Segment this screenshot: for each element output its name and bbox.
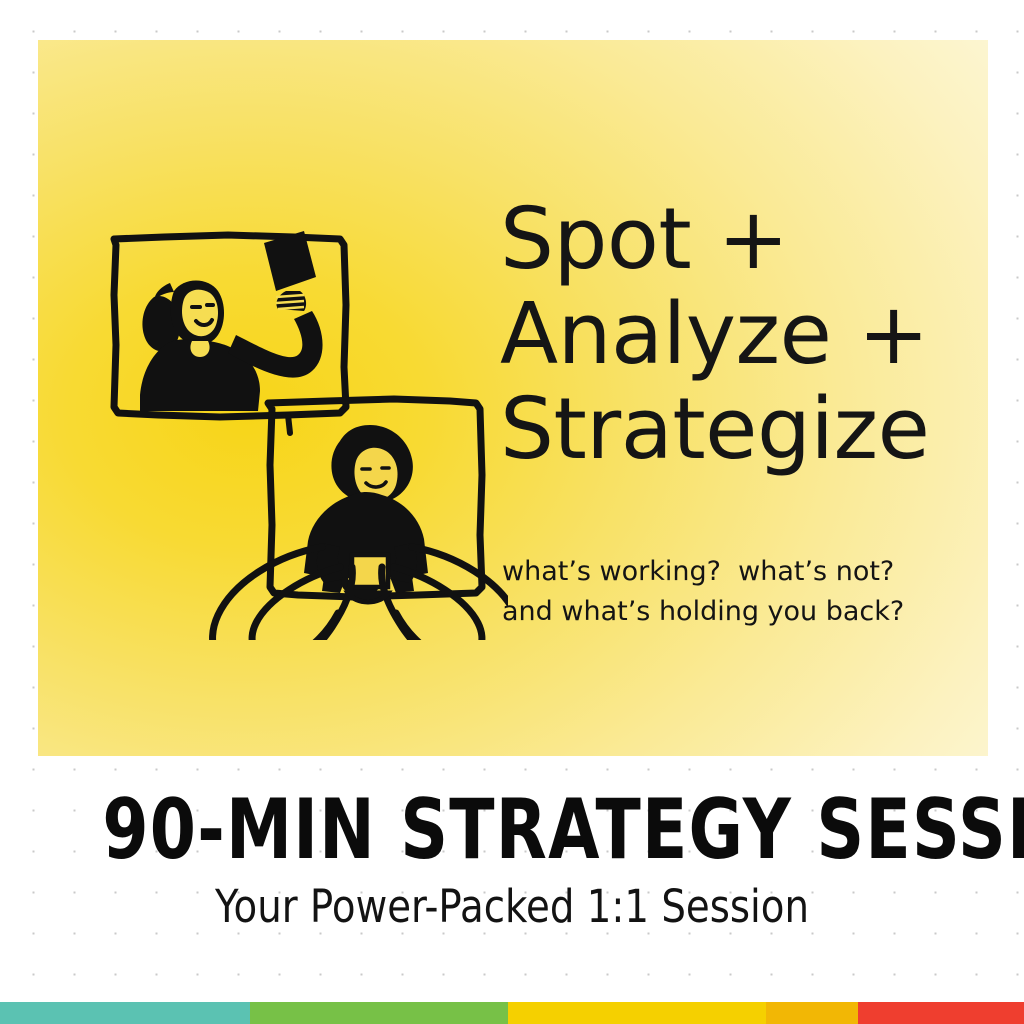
ponytail-tie [155,283,174,299]
illustration-group [108,195,508,640]
subhead-line-1: what’s working? what’s not? [502,552,1002,592]
color-segment-red [858,1002,1024,1024]
person-sitting-crosslegged-frame [213,399,508,640]
face-1 [182,290,218,337]
subhead: what’s working? what’s not? and what’s h… [502,552,1002,632]
subhead-line-2: and what’s holding you back? [502,592,1002,632]
color-segment-amber [766,1002,858,1024]
headline-line-1: Spot + [500,192,1000,287]
face-2 [354,448,397,500]
color-segment-green [250,1002,508,1024]
poster-canvas: Spot + Analyze + Strategize what’s worki… [0,0,1024,1024]
headline-line-2: Analyze + [500,287,1000,382]
color-segment-teal [0,1002,250,1024]
headline: Spot + Analyze + Strategize [500,192,1000,478]
frame-stand-1 [288,415,290,433]
color-segment-yellow [508,1002,766,1024]
footer-title: 90-MIN STRATEGY SESSION [102,790,921,870]
headline-line-3: Strategize [500,382,1000,477]
hero-panel: Spot + Analyze + Strategize what’s worki… [38,40,988,756]
footer-subtitle: Your Power-Packed 1:1 Session [72,884,953,929]
footer-text-group: 90-MIN STRATEGY SESSION Your Power-Packe… [0,790,1024,929]
color-strip [0,1002,1024,1024]
